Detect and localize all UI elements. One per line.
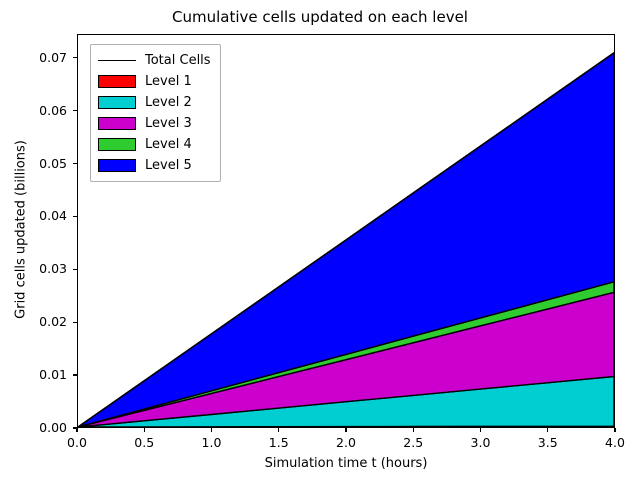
legend-item-label: Level 1 xyxy=(145,74,192,89)
y-tick-label: 0.02 xyxy=(7,314,67,329)
y-tick-label: 0.00 xyxy=(7,420,67,435)
x-tick-mark xyxy=(144,428,145,432)
legend-line-swatch xyxy=(98,54,136,67)
y-tick-label: 0.04 xyxy=(7,208,67,223)
x-tick-mark xyxy=(614,428,615,432)
x-tick-label: 3.0 xyxy=(451,435,511,450)
x-axis-label: Simulation time t (hours) xyxy=(77,456,615,471)
legend-color-swatch xyxy=(98,159,136,172)
x-tick-label: 1.0 xyxy=(182,435,242,450)
x-tick-label: 4.0 xyxy=(585,435,640,450)
legend-item-total-cells[interactable]: Total Cells xyxy=(98,50,211,71)
x-tick-mark xyxy=(547,428,548,432)
x-tick-mark xyxy=(278,428,279,432)
legend-item-level-3[interactable]: Level 3 xyxy=(98,113,211,134)
y-tick-mark xyxy=(73,57,77,58)
legend-item-level-4[interactable]: Level 4 xyxy=(98,134,211,155)
y-tick-mark xyxy=(73,216,77,217)
legend-color-swatch xyxy=(98,117,136,130)
y-tick-mark xyxy=(73,110,77,111)
x-tick-label: 3.5 xyxy=(518,435,578,450)
y-tick-mark xyxy=(73,163,77,164)
x-tick-label: 0.0 xyxy=(47,435,107,450)
y-tick-mark xyxy=(73,269,77,270)
y-tick-label: 0.01 xyxy=(7,367,67,382)
legend-item-label: Level 5 xyxy=(145,158,192,173)
legend-item-label: Level 3 xyxy=(145,116,192,131)
legend-item-level-2[interactable]: Level 2 xyxy=(98,92,211,113)
x-tick-label: 2.5 xyxy=(383,435,443,450)
legend-color-swatch xyxy=(98,75,136,88)
y-tick-mark xyxy=(73,322,77,323)
legend-color-swatch xyxy=(98,96,136,109)
figure: Cumulative cells updated on each level G… xyxy=(0,0,640,480)
legend-color-swatch xyxy=(98,138,136,151)
x-tick-mark xyxy=(76,428,77,432)
y-tick-label: 0.05 xyxy=(7,156,67,171)
legend-item-label: Level 2 xyxy=(145,95,192,110)
x-tick-mark xyxy=(480,428,481,432)
legend-item-level-1[interactable]: Level 1 xyxy=(98,71,211,92)
x-tick-mark xyxy=(413,428,414,432)
y-tick-label: 0.03 xyxy=(7,261,67,276)
y-tick-label: 0.07 xyxy=(7,50,67,65)
legend-item-label: Level 4 xyxy=(145,137,192,152)
x-tick-mark xyxy=(211,428,212,432)
x-tick-label: 0.5 xyxy=(114,435,174,450)
legend-item-level-5[interactable]: Level 5 xyxy=(98,155,211,176)
x-tick-label: 1.5 xyxy=(249,435,309,450)
chart-title: Cumulative cells updated on each level xyxy=(0,8,640,26)
y-tick-mark xyxy=(73,374,77,375)
x-tick-mark xyxy=(345,428,346,432)
x-tick-label: 2.0 xyxy=(316,435,376,450)
legend: Total CellsLevel 1Level 2Level 3Level 4L… xyxy=(90,44,221,182)
y-tick-label: 0.06 xyxy=(7,103,67,118)
legend-item-label: Total Cells xyxy=(145,53,211,68)
